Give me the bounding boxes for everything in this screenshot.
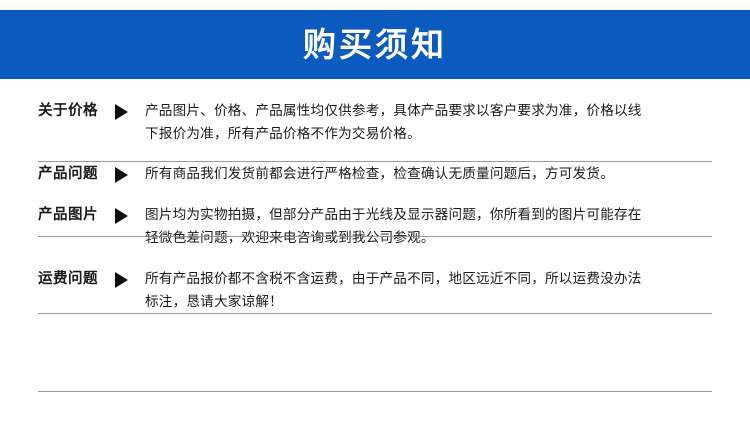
section-divider: [38, 391, 712, 392]
notice-body-line: 产品图片、价格、产品属性均仅供参考，具体产品要求以客户要求为准，价格以线: [145, 100, 712, 123]
purchase-notice-page: 购买须知 关于价格 产品图片、价格、产品属性均仅供参考，具体产品要求以客户要求为…: [0, 0, 750, 432]
notice-body: 所有商品我们发货前都会进行严格检查，检查确认无质量问题后，方可发货。: [145, 163, 712, 186]
page-header-banner: 购买须知: [0, 10, 750, 79]
section-divider: [38, 161, 712, 162]
section-divider: [38, 313, 712, 314]
notice-body: 所有产品报价都不含税不含运费，由于产品不同，地区远近不同，所以运费没办法 标注，…: [145, 268, 712, 314]
right-triangle-bullet-icon: [113, 268, 145, 291]
notice-label: 产品图片: [38, 204, 113, 227]
notice-body: 产品图片、价格、产品属性均仅供参考，具体产品要求以客户要求为准，价格以线 下报价…: [145, 100, 712, 146]
notice-body-line: 轻微色差问题，欢迎来电咨询或到我公司参观。: [145, 227, 712, 250]
notice-label: 关于价格: [38, 100, 113, 123]
notice-body-line: 下报价为准，所有产品价格不作为交易价格。: [145, 123, 712, 146]
notice-body-line: 所有产品报价都不含税不含运费，由于产品不同，地区远近不同，所以运费没办法: [145, 268, 712, 291]
notice-body-line: 所有商品我们发货前都会进行严格检查，检查确认无质量问题后，方可发货。: [145, 163, 712, 186]
notice-body-line: 标注，恳请大家谅解！: [145, 291, 712, 314]
right-triangle-bullet-icon: [113, 204, 145, 227]
notice-body-line: 图片均为实物拍摄，但部分产品由于光线及显示器问题，你所看到的图片可能存在: [145, 204, 712, 227]
notice-row: 产品图片 图片均为实物拍摄，但部分产品由于光线及显示器问题，你所看到的图片可能存…: [0, 186, 750, 250]
notice-list: 关于价格 产品图片、价格、产品属性均仅供参考，具体产品要求以客户要求为准，价格以…: [0, 79, 750, 314]
notice-label: 运费问题: [38, 268, 113, 291]
section-divider: [38, 236, 712, 237]
notice-row: 关于价格 产品图片、价格、产品属性均仅供参考，具体产品要求以客户要求为准，价格以…: [0, 79, 750, 146]
notice-label: 产品问题: [38, 163, 113, 186]
notice-row: 产品问题 所有商品我们发货前都会进行严格检查，检查确认无质量问题后，方可发货。: [0, 146, 750, 186]
notice-row: 运费问题 所有产品报价都不含税不含运费，由于产品不同，地区远近不同，所以运费没办…: [0, 250, 750, 314]
page-title: 购买须知: [303, 28, 447, 61]
right-triangle-bullet-icon: [113, 163, 145, 186]
notice-body: 图片均为实物拍摄，但部分产品由于光线及显示器问题，你所看到的图片可能存在 轻微色…: [145, 204, 712, 250]
right-triangle-bullet-icon: [113, 100, 145, 123]
